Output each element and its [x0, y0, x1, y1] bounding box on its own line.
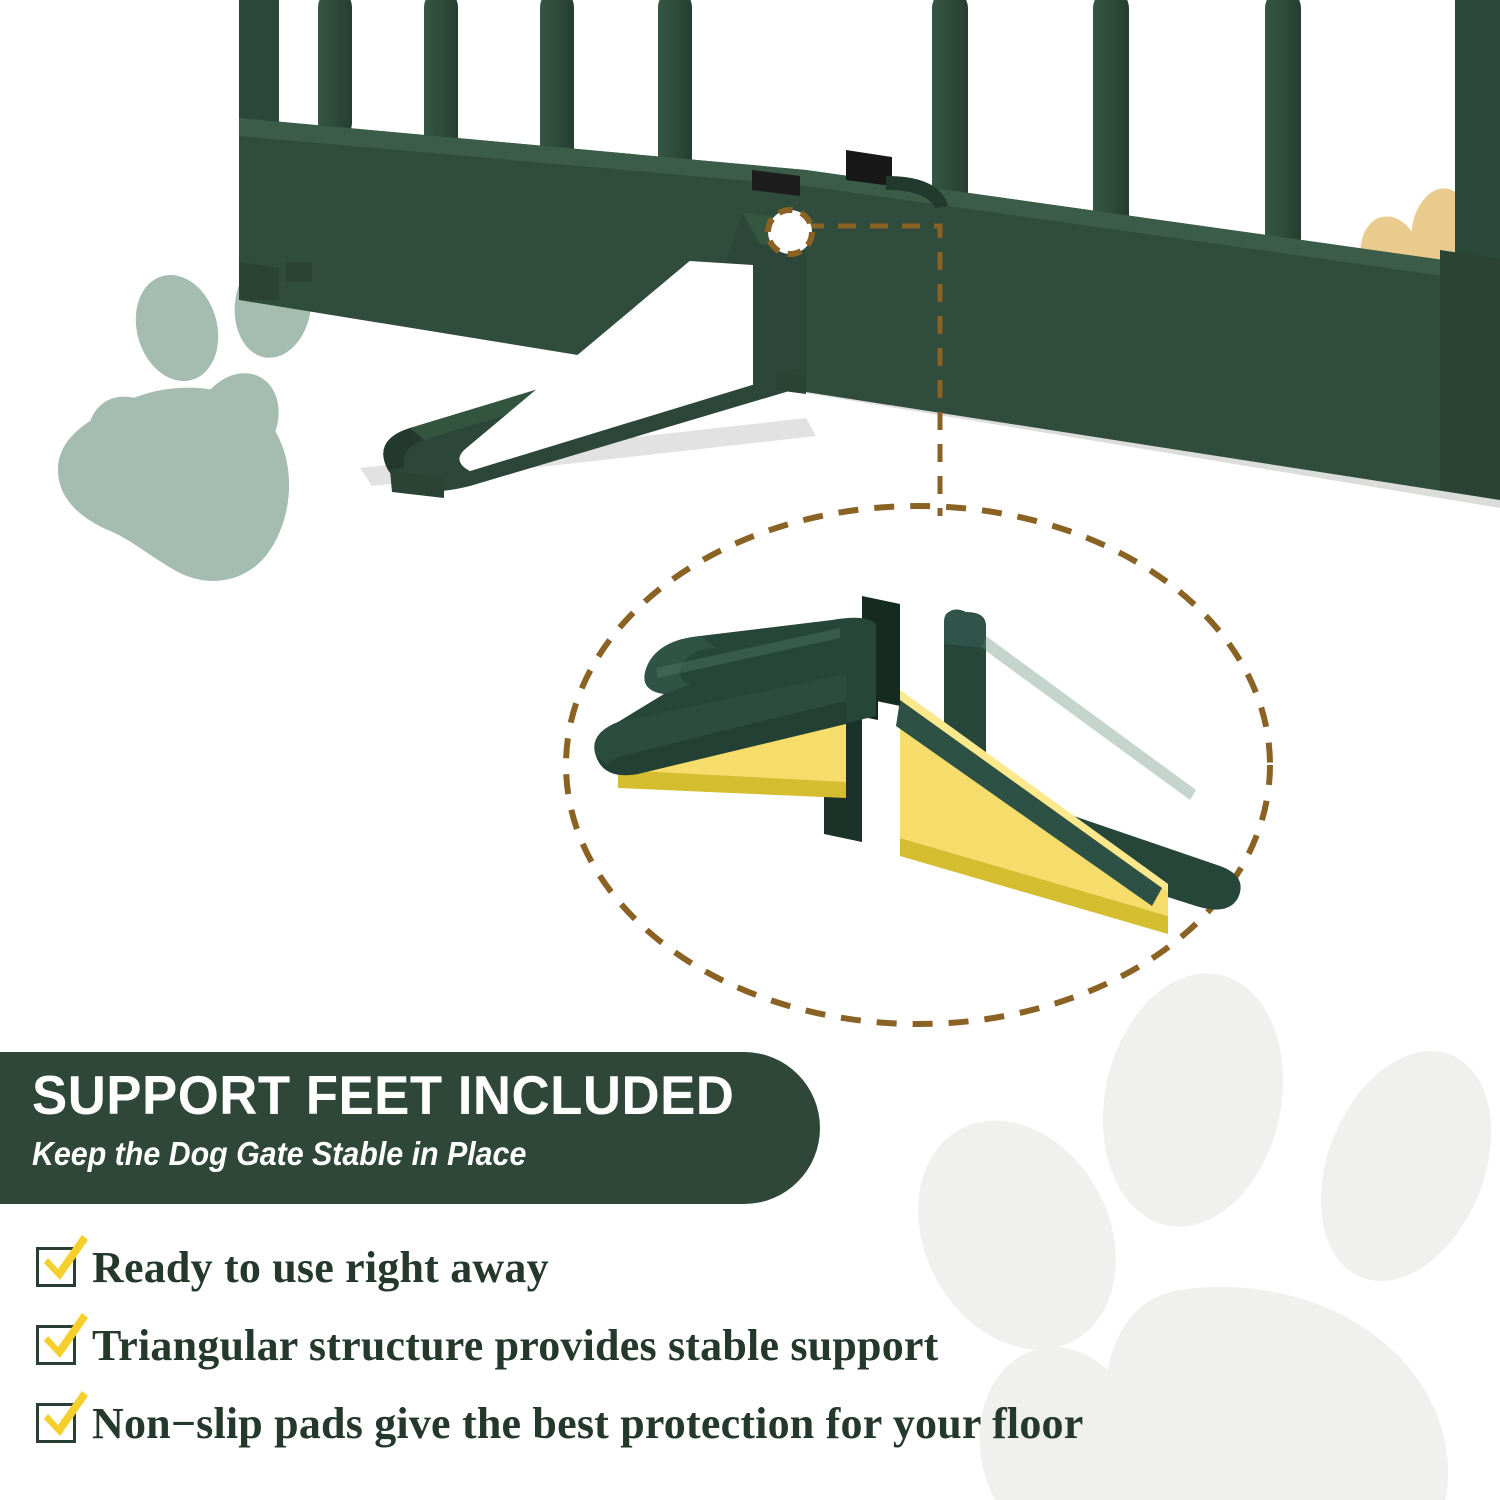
list-item: Non−slip pads give the best protection f…	[36, 1384, 1216, 1462]
product-feature-image: SUPPORT FEET INCLUDED Keep the Dog Gate …	[0, 0, 1500, 1500]
support-foot-rear	[896, 610, 1241, 934]
check-box-icon	[36, 1325, 76, 1365]
list-item-label: Ready to use right away	[92, 1242, 549, 1293]
page-title: SUPPORT FEET INCLUDED	[32, 1068, 788, 1123]
support-feet-detail	[594, 596, 1240, 934]
list-item-label: Non−slip pads give the best protection f…	[92, 1398, 1083, 1449]
list-item: Ready to use right away	[36, 1228, 1216, 1306]
page-subtitle: Keep the Dog Gate Stable in Place	[32, 1137, 757, 1170]
support-foot-front	[594, 618, 876, 798]
feature-bullet-list: Ready to use right away Triangular struc…	[36, 1228, 1216, 1462]
callout-leader-line	[806, 226, 940, 516]
list-item: Triangular structure provides stable sup…	[36, 1306, 1216, 1384]
callout-origin-marker	[768, 210, 812, 254]
headline-banner: SUPPORT FEET INCLUDED Keep the Dog Gate …	[0, 1052, 820, 1204]
list-item-label: Triangular structure provides stable sup…	[92, 1320, 939, 1371]
check-box-icon	[36, 1403, 76, 1443]
check-box-icon	[36, 1247, 76, 1287]
